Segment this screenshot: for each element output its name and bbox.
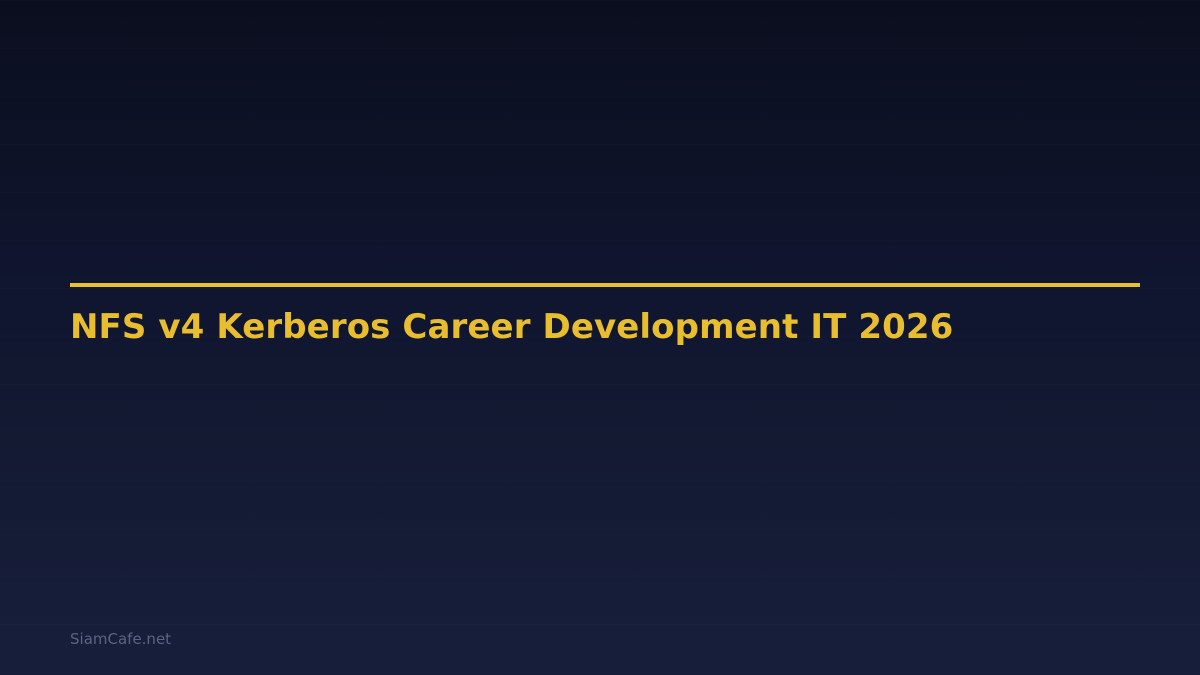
slide-title: NFS v4 Kerberos Career Development IT 20…	[70, 287, 1140, 348]
footer: SiamCafe.net	[70, 630, 171, 650]
title-block: NFS v4 Kerberos Career Development IT 20…	[70, 283, 1140, 348]
title-slide: NFS v4 Kerberos Career Development IT 20…	[0, 0, 1200, 675]
footer-source-label: SiamCafe.net	[70, 630, 171, 650]
